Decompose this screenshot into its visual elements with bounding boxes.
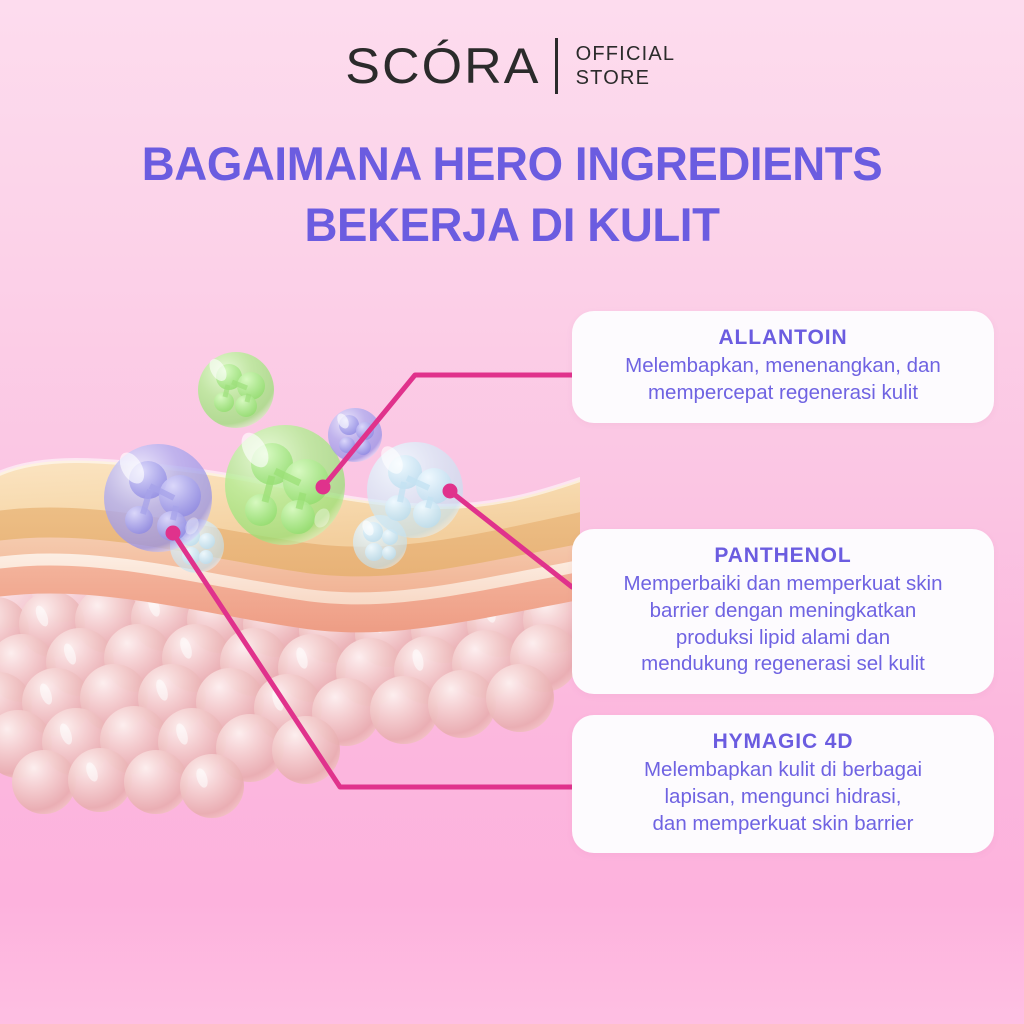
callout-body-line: dan memperkuat skin barrier (590, 811, 976, 838)
callout-body-line: barrier dengan meningkatkan (590, 598, 976, 625)
callout-body-panthenol: Memperbaiki dan memperkuat skin barrier … (590, 571, 976, 678)
callout-connector-lines (0, 0, 1024, 1024)
callout-body-line: Melembapkan, menenangkan, dan (590, 353, 976, 380)
callout-body-line: Melembapkan kulit di berbagai (590, 757, 976, 784)
connector-line-hymagic (173, 533, 572, 787)
callout-body-hymagic: Melembapkan kulit di berbagai lapisan, m… (590, 757, 976, 837)
connector-line-panthenol (450, 491, 572, 587)
callout-card-hymagic[interactable]: HYMAGIC 4D Melembapkan kulit di berbagai… (572, 715, 994, 853)
connector-dot-allantoin (316, 480, 331, 495)
connector-dot-hymagic (166, 526, 181, 541)
callout-title-allantoin: ALLANTOIN (590, 325, 976, 351)
callout-body-line: mempercepat regenerasi kulit (590, 380, 976, 407)
callout-title-hymagic: HYMAGIC 4D (590, 729, 976, 755)
callout-card-panthenol[interactable]: PANTHENOL Memperbaiki dan memperkuat ski… (572, 529, 994, 694)
connector-line-allantoin (323, 375, 572, 487)
callout-body-allantoin: Melembapkan, menenangkan, dan mempercepa… (590, 353, 976, 406)
callout-body-line: lapisan, mengunci hidrasi, (590, 784, 976, 811)
callout-body-line: Memperbaiki dan memperkuat skin (590, 571, 976, 598)
connector-dot-panthenol (443, 484, 458, 499)
callout-body-line: mendukung regenerasi sel kulit (590, 651, 976, 678)
callout-body-line: produksi lipid alami dan (590, 625, 976, 652)
callout-title-panthenol: PANTHENOL (590, 543, 976, 569)
callout-card-allantoin[interactable]: ALLANTOIN Melembapkan, menenangkan, dan … (572, 311, 994, 423)
